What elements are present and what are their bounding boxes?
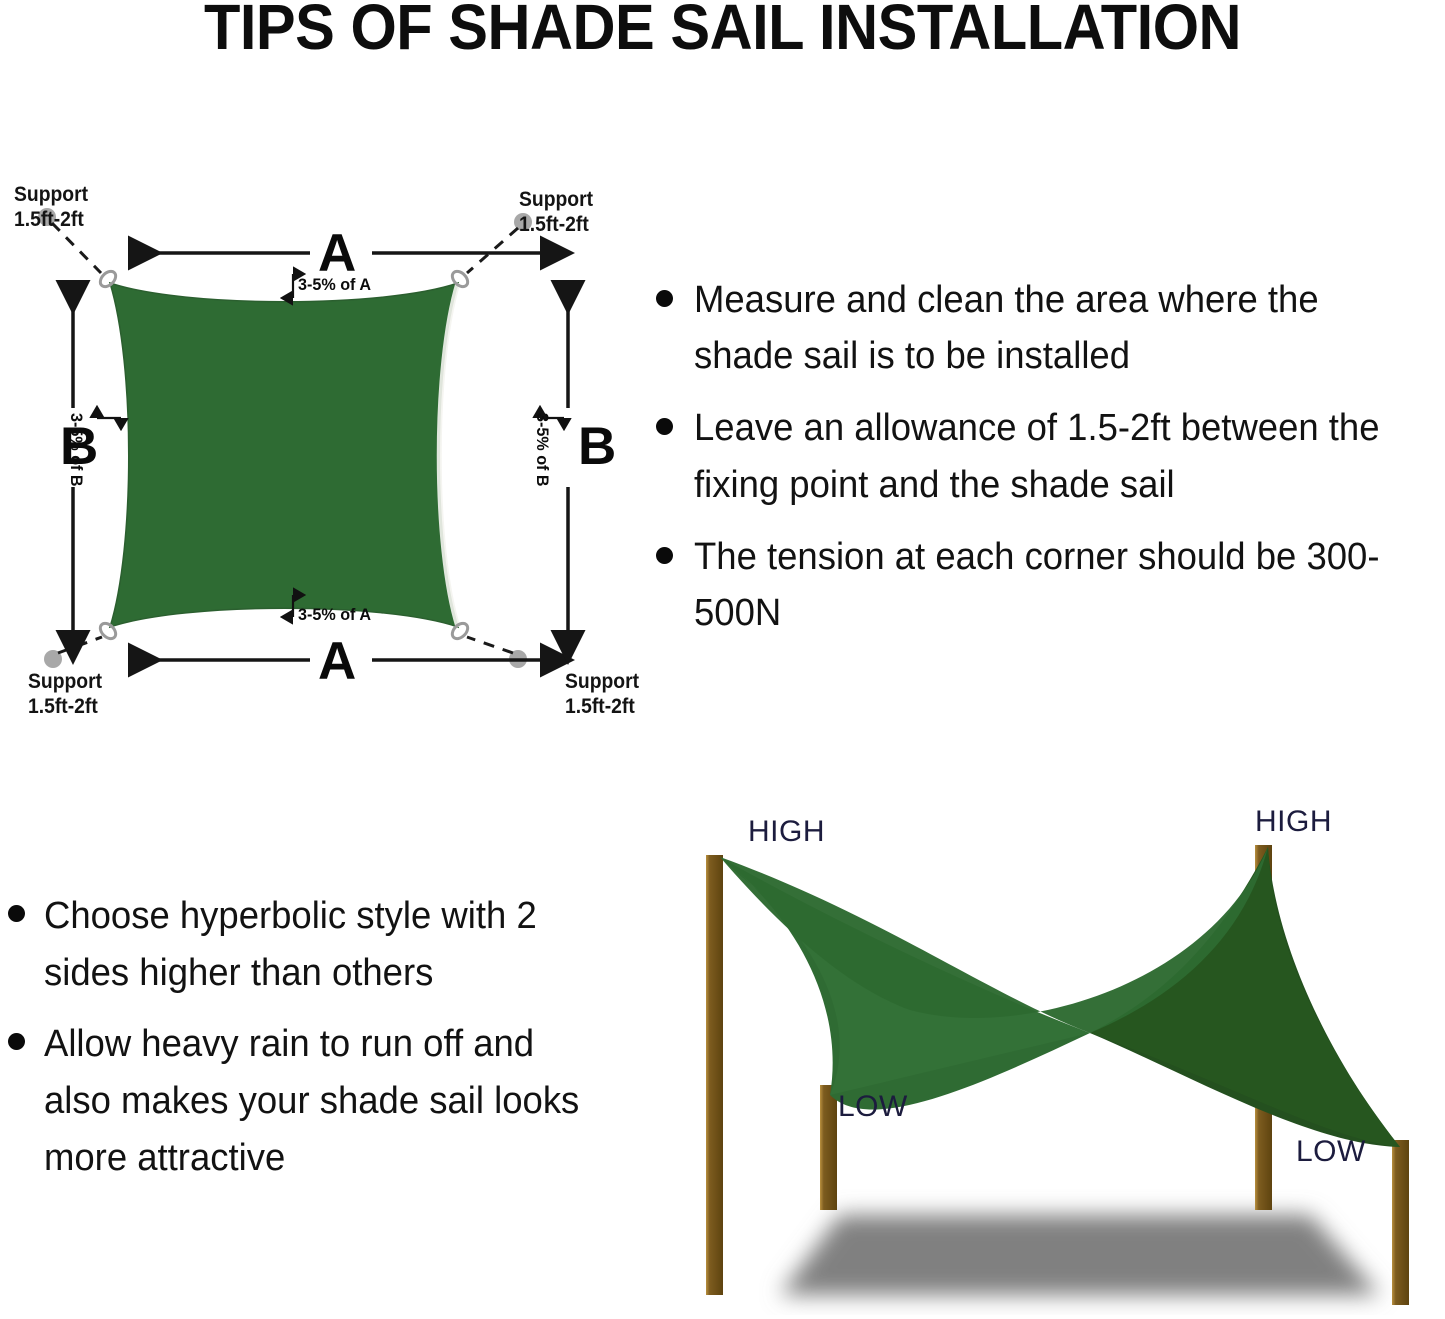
support-label-top-left: Support 1.5ft-2ft bbox=[14, 183, 88, 233]
curve-callout-top: 3-5% of A bbox=[298, 275, 371, 295]
list-item: Choose hyperbolic style with 2 sides hig… bbox=[0, 888, 625, 1002]
dimension-letter-a-top: A bbox=[318, 227, 356, 280]
support-label-line1: Support bbox=[28, 670, 102, 695]
hyperbolic-sail-svg bbox=[690, 795, 1435, 1315]
page-title: TIPS OF SHADE SAIL INSTALLATION bbox=[51, 0, 1395, 61]
bullet-dot-icon bbox=[656, 418, 673, 435]
sail-shape bbox=[110, 283, 458, 627]
list-item: The tension at each corner should be 300… bbox=[650, 529, 1445, 641]
curve-callout-bottom: 3-5% of A bbox=[298, 605, 371, 625]
corner-label-high-right: HIGH bbox=[1255, 805, 1332, 839]
corner-label-low-right: LOW bbox=[1296, 1135, 1366, 1169]
tip-text: Allow heavy rain to run off and also mak… bbox=[44, 1016, 602, 1187]
hyperbolic-sail-diagram: HIGH HIGH LOW LOW bbox=[690, 795, 1435, 1315]
post-low-left bbox=[820, 1085, 837, 1210]
tip-text: Choose hyperbolic style with 2 sides hig… bbox=[44, 888, 602, 1002]
support-label-line2: 1.5ft-2ft bbox=[28, 695, 102, 720]
corner-label-high-left: HIGH bbox=[748, 815, 825, 849]
infographic-page: TIPS OF SHADE SAIL INSTALLATION bbox=[0, 0, 1445, 1319]
bullet-dot-icon bbox=[656, 547, 673, 564]
support-label-line1: Support bbox=[519, 188, 593, 213]
tip-text: The tension at each corner should be 300… bbox=[694, 529, 1420, 641]
rect-sail-diagram: Support 1.5ft-2ft Support 1.5ft-2ft Supp… bbox=[0, 165, 650, 725]
tips-list-right: Measure and clean the area where the sha… bbox=[650, 272, 1445, 641]
tips-list-bottom-left: Choose hyperbolic style with 2 sides hig… bbox=[0, 888, 625, 1201]
support-label-bottom-right: Support 1.5ft-2ft bbox=[565, 670, 639, 720]
dimension-letter-a-bottom: A bbox=[318, 635, 356, 688]
support-label-bottom-left: Support 1.5ft-2ft bbox=[28, 670, 102, 720]
bullet-dot-icon bbox=[656, 290, 673, 307]
support-label-line1: Support bbox=[565, 670, 639, 695]
support-label-line2: 1.5ft-2ft bbox=[565, 695, 639, 720]
list-item: Allow heavy rain to run off and also mak… bbox=[0, 1016, 625, 1187]
list-item: Measure and clean the area where the sha… bbox=[650, 272, 1445, 384]
support-label-line2: 1.5ft-2ft bbox=[14, 208, 88, 233]
post-low-right bbox=[1392, 1140, 1409, 1305]
support-label-top-right: Support 1.5ft-2ft bbox=[519, 188, 593, 238]
support-label-line2: 1.5ft-2ft bbox=[519, 213, 593, 238]
corner-label-low-left: LOW bbox=[838, 1090, 908, 1124]
support-label-line1: Support bbox=[14, 183, 88, 208]
tip-text: Leave an allowance of 1.5-2ft between th… bbox=[694, 400, 1420, 512]
dimension-letter-b-right: B bbox=[578, 420, 616, 473]
ground-shadow bbox=[780, 1215, 1380, 1295]
curve-callout-left: 3-5% of B bbox=[66, 413, 86, 487]
bullet-dot-icon bbox=[8, 1033, 25, 1050]
post-high-left bbox=[706, 855, 723, 1295]
curve-callout-right: 3-5% of B bbox=[532, 413, 552, 487]
bullet-dot-icon bbox=[8, 905, 25, 922]
list-item: Leave an allowance of 1.5-2ft between th… bbox=[650, 400, 1445, 512]
tip-text: Measure and clean the area where the sha… bbox=[694, 272, 1420, 384]
